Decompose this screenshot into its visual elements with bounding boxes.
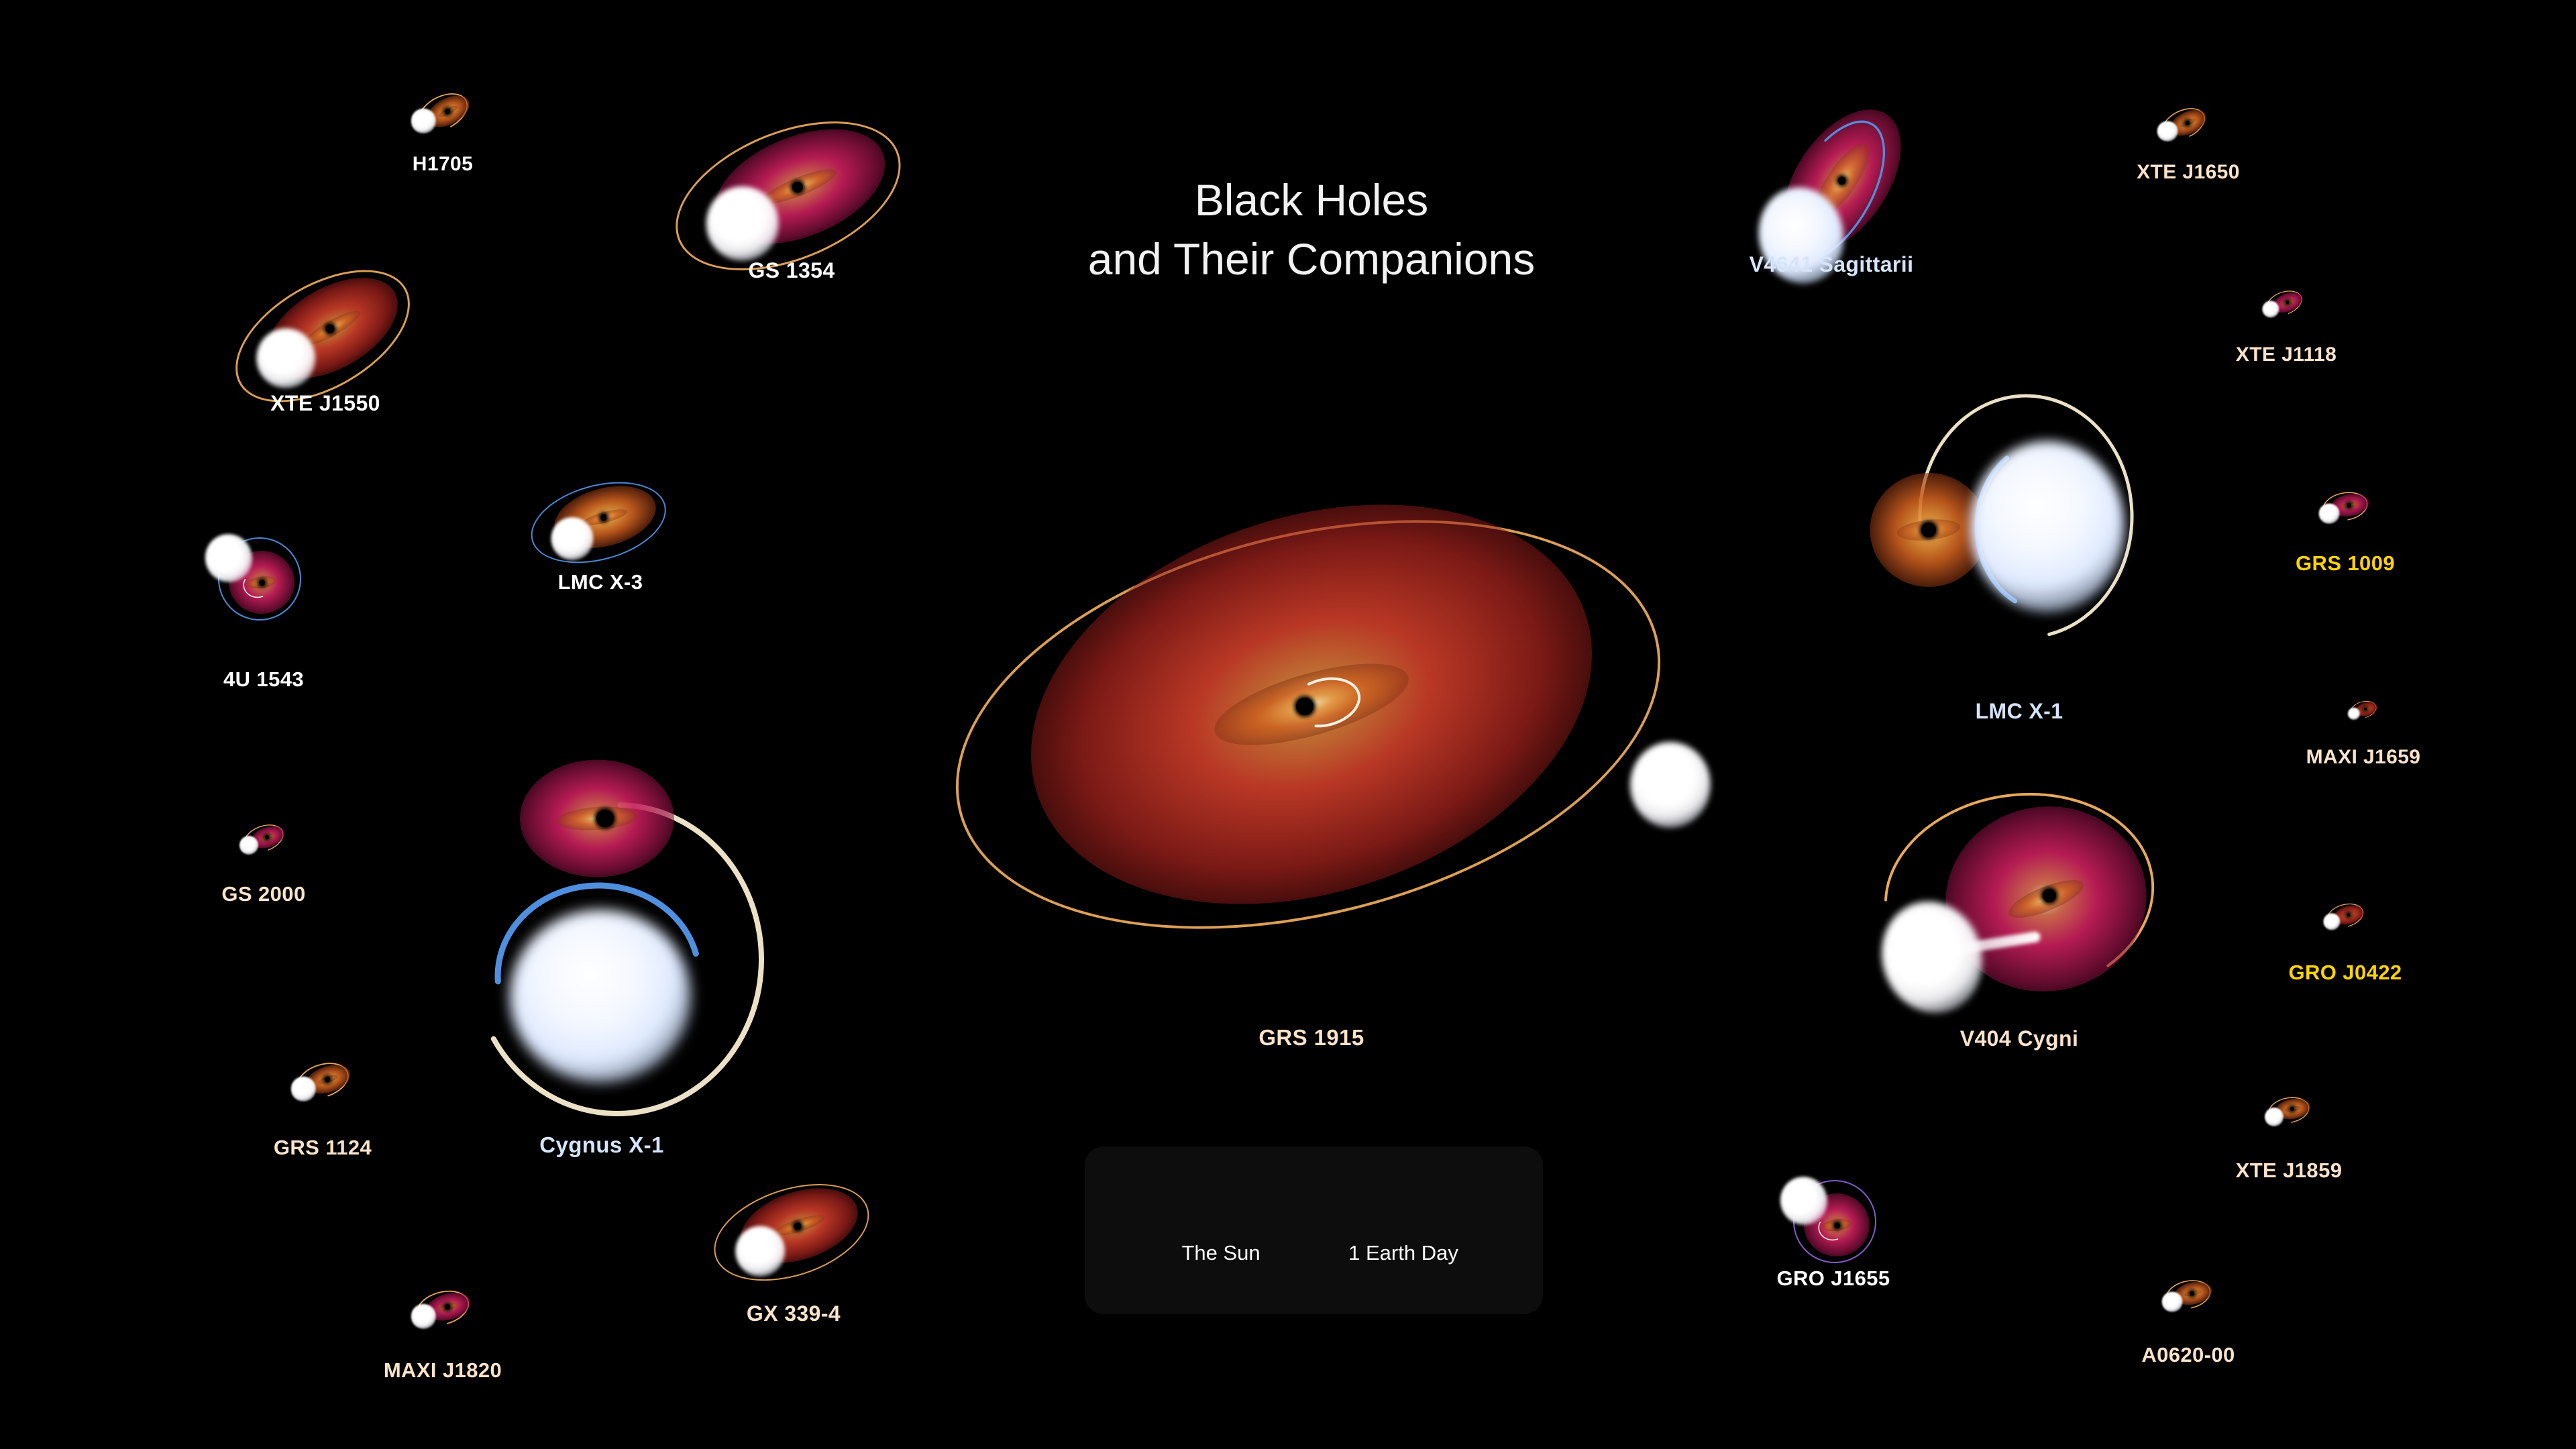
companion-star xyxy=(1970,441,2125,612)
companion-star xyxy=(551,517,593,560)
black-hole xyxy=(2347,503,2351,508)
black-hole xyxy=(445,109,450,114)
black-hole xyxy=(326,325,335,333)
system-label-lmc-x-3: LMC X-3 xyxy=(558,570,643,594)
black-hole xyxy=(794,1222,801,1230)
system-label-4u-1543: 4U 1543 xyxy=(223,667,304,692)
system-label-lmc-x-1: LMC X-1 xyxy=(1976,699,2063,724)
companion-star xyxy=(2157,121,2178,142)
one-earth-day-label: 1 Earth Day xyxy=(1348,1241,1458,1265)
title-line-1: Black Holes xyxy=(1088,171,1536,230)
companion-star xyxy=(256,329,315,388)
companion-star xyxy=(736,1226,786,1276)
black-hole xyxy=(596,810,614,827)
page-title: Black Holes and Their Companions xyxy=(1088,171,1536,289)
system-label-cygnus-x-1: Cygnus X-1 xyxy=(539,1132,664,1158)
system-label-grs-1009: GRS 1009 xyxy=(2296,551,2395,576)
system-label-grs-1915: GRS 1915 xyxy=(1258,1025,1364,1051)
system-label-a0620-00: A0620-00 xyxy=(2141,1343,2235,1367)
title-line-2: and Their Companions xyxy=(1088,230,1536,289)
black-hole xyxy=(325,1077,330,1082)
system-label-maxi-j1659: MAXI J1659 xyxy=(2306,746,2421,769)
system-label-gs-2000: GS 2000 xyxy=(221,882,305,906)
scale-legend: The Sun 1 Earth Day xyxy=(1085,1146,1543,1314)
black-hole xyxy=(2190,1291,2194,1296)
black-hole-infographic: Black Holes and Their Companions H1705GS… xyxy=(0,0,2576,1449)
companion-star xyxy=(2318,503,2339,524)
system-label-xte-j1650: XTE J1650 xyxy=(2137,161,2240,184)
system-label-grs-1124: GRS 1124 xyxy=(274,1136,372,1160)
system-label-xte-j1859: XTE J1859 xyxy=(2236,1159,2343,1183)
companion-star xyxy=(2161,1291,2182,1312)
system-label-xte-j1118: XTE J1118 xyxy=(2236,343,2337,366)
companion-star xyxy=(239,836,258,855)
black-hole xyxy=(2043,889,2056,902)
black-hole xyxy=(2290,1107,2294,1111)
the-sun-label: The Sun xyxy=(1181,1241,1260,1265)
system-label-maxi-j1820: MAXI J1820 xyxy=(384,1358,502,1383)
system-label-gro-j0422: GRO J0422 xyxy=(2288,961,2402,985)
black-hole xyxy=(1921,523,1936,537)
black-hole xyxy=(2185,121,2190,125)
companion-star xyxy=(2265,1108,2284,1126)
system-label-gx-339-4: GX 339-4 xyxy=(747,1301,841,1326)
companion-star xyxy=(1630,742,1711,828)
companion-star xyxy=(706,186,780,260)
black-hole xyxy=(2364,708,2367,710)
black-hole xyxy=(445,1304,450,1309)
black-hole xyxy=(265,835,269,839)
system-label-h1705: H1705 xyxy=(413,153,473,176)
system-label-v404-cygni: V404 Cygni xyxy=(1960,1026,2079,1051)
companion-star xyxy=(510,910,691,1083)
system-label-gro-j1655: GRO J1655 xyxy=(1776,1267,1890,1291)
